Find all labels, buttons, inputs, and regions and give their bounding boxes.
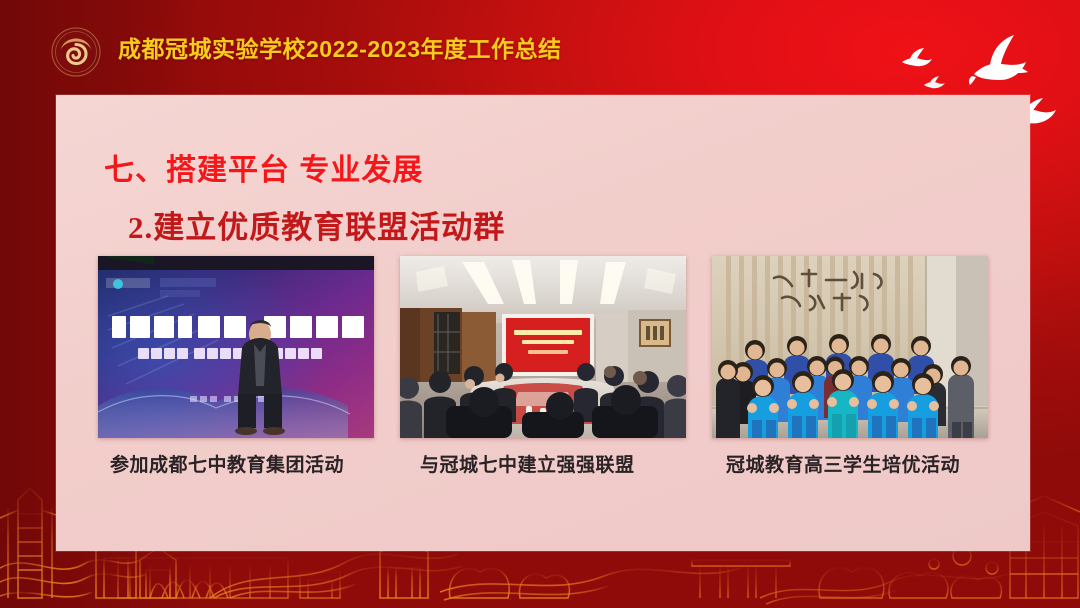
header-title: 成都冠城实验学校2022-2023年度工作总结 bbox=[118, 30, 562, 64]
slide-root: · 成都冠城实验学校2022-2023年度工作总结 七、搭建平台 专业发展 2.… bbox=[0, 0, 1080, 608]
photo-slot-1 bbox=[98, 256, 374, 438]
content-card: 七、搭建平台 专业发展 2.建立优质教育联盟活动群 bbox=[56, 95, 1030, 551]
school-emblem-icon: · bbox=[50, 26, 102, 78]
section-heading: 七、搭建平台 专业发展 bbox=[104, 145, 423, 189]
photo-chengdu-no7-education-group-event[interactable] bbox=[98, 256, 374, 438]
photo-guancheng-no7-alliance-meeting[interactable] bbox=[400, 256, 686, 438]
photo-caption-3: 冠城教育高三学生培优活动 bbox=[726, 450, 960, 477]
photo-captions: 参加成都七中教育集团活动 与冠城七中建立强强联盟 冠城教育高三学生培优活动 bbox=[98, 450, 988, 484]
photo-slot-3 bbox=[712, 256, 988, 438]
photo-caption-1: 参加成都七中教育集团活动 bbox=[110, 450, 344, 477]
svg-text:·: · bbox=[64, 37, 65, 41]
photo-senior-three-students-enrichment[interactable] bbox=[712, 256, 988, 438]
section-subheading: 2.建立优质教育联盟活动群 bbox=[128, 202, 505, 247]
slide-header: · 成都冠城实验学校2022-2023年度工作总结 bbox=[0, 0, 1080, 95]
photo-row bbox=[98, 256, 988, 438]
photo-slot-2 bbox=[400, 256, 686, 438]
photo-caption-2: 与冠城七中建立强强联盟 bbox=[420, 450, 635, 477]
